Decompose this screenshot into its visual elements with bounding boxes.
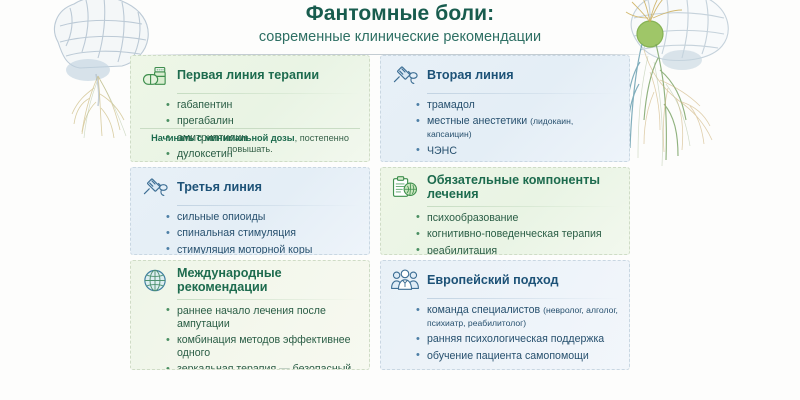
- header-divider: [140, 54, 660, 55]
- card-header: Третья линия: [140, 174, 360, 205]
- list-item-label: зеркальная терапия: [427, 161, 526, 162]
- syringe-icon: [390, 62, 420, 89]
- globe-icon: [140, 267, 170, 294]
- page-header: Фантомные боли: современные клинические …: [140, 2, 660, 55]
- card-first-line-therapy: Первая линия терапиигабапентинпрегабалин…: [130, 55, 370, 162]
- card-title-divider: [427, 298, 620, 299]
- list-item-label: когнитивно-поведенческая терапия: [427, 228, 602, 240]
- list-item: реабилитация: [416, 245, 620, 255]
- list-item: ЧЭНС: [416, 145, 620, 158]
- card-mandatory-components: Обязательные компоненты леченияпсихообра…: [380, 167, 630, 255]
- list-item: спинальная стимуляция: [166, 227, 360, 240]
- card-header: Обязательные компоненты лечения: [390, 174, 620, 206]
- recommendation-card-grid: Первая линия терапиигабапентинпрегабалин…: [130, 55, 670, 380]
- list-item: габапентин: [166, 99, 360, 112]
- card-title-divider: [177, 205, 360, 206]
- card-title-divider: [427, 206, 620, 207]
- list-item-label: спинальная стимуляция: [177, 227, 296, 239]
- card-title: Первая линия терапии: [177, 69, 319, 83]
- list-item: раннее начало лечения после ампутации: [166, 305, 360, 331]
- list-item-label: комбинация методов эффективнее одного: [177, 334, 351, 359]
- card-second-line: Вторая линиятрамадолместные анестетики (…: [380, 55, 630, 162]
- card-footer-note: Начинать с минимальной дозы, постепенно …: [140, 128, 360, 155]
- pill-bottle-icon: [140, 62, 170, 89]
- list-item: сильные опиоиды: [166, 211, 360, 224]
- footer-emphasis: Начинать с минимальной дозы: [151, 133, 295, 143]
- list-item: местные анестетики (лидокаин, капсаицин): [416, 115, 620, 141]
- list-item: трамадол: [416, 99, 620, 112]
- clipboard-brain-icon: [390, 174, 420, 201]
- list-item-label: ЧЭНС: [427, 145, 457, 157]
- card-title-divider: [427, 93, 620, 94]
- list-item-label: сильные опиоиды: [177, 211, 265, 223]
- card-item-list: психообразованиекогнитивно-поведенческая…: [416, 212, 620, 255]
- card-international-recommendations: Международные рекомендациираннее начало …: [130, 260, 370, 370]
- card-title: Вторая линия: [427, 69, 514, 83]
- card-title: Международные рекомендации: [177, 267, 360, 295]
- list-item-label: трамадол: [427, 99, 475, 111]
- list-item-label: раннее начало лечения после ампутации: [177, 305, 326, 330]
- card-item-list: сильные опиоидыспинальная стимуляциястим…: [166, 211, 360, 255]
- card-title: Европейский подход: [427, 274, 559, 288]
- card-title: Третья линия: [177, 181, 262, 195]
- card-european-approach: Европейский подходкоманда специалистов (…: [380, 260, 630, 370]
- list-item-label: прегабалин: [177, 115, 234, 127]
- card-item-list: раннее начало лечения после ампутацииком…: [166, 305, 360, 370]
- card-item-list: команда специалистов (невролог, алголог,…: [416, 304, 620, 363]
- card-item-list: трамадолместные анестетики (лидокаин, ка…: [416, 99, 620, 162]
- card-header: Европейский подход: [390, 267, 620, 298]
- card-header: Первая линия терапии: [140, 62, 360, 93]
- list-item-label: зеркальная терапия — безопасный метод пе…: [177, 363, 351, 370]
- card-third-line: Третья линиясильные опиоидыспинальная ст…: [130, 167, 370, 255]
- list-item: комбинация методов эффективнее одного: [166, 334, 360, 360]
- card-title-divider: [177, 93, 360, 94]
- list-item: обучение пациента самопомощи: [416, 350, 620, 363]
- page-title: Фантомные боли:: [140, 2, 660, 26]
- list-item: прегабалин: [166, 115, 360, 128]
- list-item: ранняя психологическая поддержка: [416, 333, 620, 346]
- list-item-label: местные анестетики: [427, 115, 530, 127]
- list-item: команда специалистов (невролог, алголог,…: [416, 304, 620, 330]
- list-item-label: стимуляция моторной коры: [177, 244, 312, 255]
- card-title-divider: [177, 299, 360, 300]
- list-item-label: габапентин: [177, 99, 232, 111]
- list-item: когнитивно-поведенческая терапия: [416, 228, 620, 241]
- list-item-label: психообразование: [427, 212, 518, 224]
- infographic-page: Фантомные боли: современные клинические …: [0, 0, 800, 400]
- list-item-label: ранняя психологическая поддержка: [427, 333, 604, 345]
- medical-team-icon: [390, 267, 420, 294]
- list-item: стимуляция моторной коры: [166, 244, 360, 255]
- list-item: зеркальная терапия: [416, 161, 620, 162]
- page-subtitle: современные клинические рекомендации: [140, 29, 660, 46]
- syringe-icon: [140, 174, 170, 201]
- card-title: Обязательные компоненты лечения: [427, 174, 620, 202]
- card-header: Международные рекомендации: [140, 267, 360, 299]
- list-item-label: команда специалистов: [427, 304, 543, 316]
- list-item: зеркальная терапия — безопасный метод пе…: [166, 363, 360, 370]
- list-item: психообразование: [416, 212, 620, 225]
- list-item-label: реабилитация: [427, 245, 497, 255]
- card-header: Вторая линия: [390, 62, 620, 93]
- list-item-label: обучение пациента самопомощи: [427, 350, 589, 362]
